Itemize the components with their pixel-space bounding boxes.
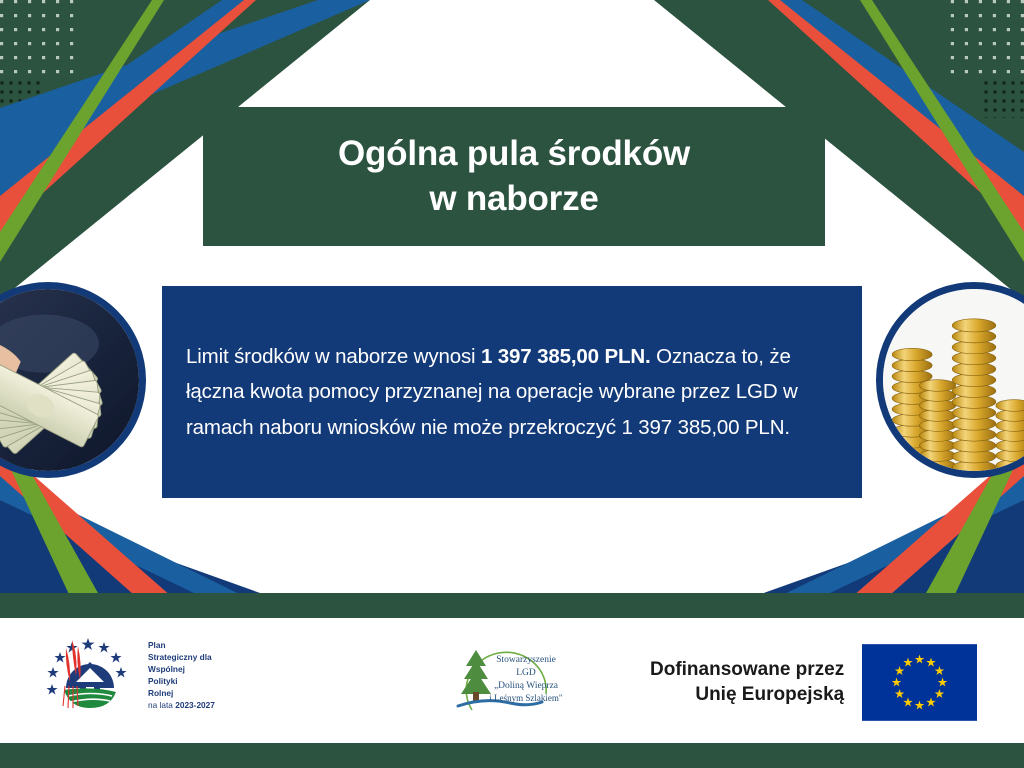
- title-line-2: w naborze: [429, 177, 598, 222]
- prow-line-years: na lata 2023-2027: [148, 699, 215, 711]
- prow-line-5: Rolnej: [148, 687, 215, 699]
- eu-text-line-1: Dofinansowane przez: [650, 658, 844, 682]
- eu-funding-text: Dofinansowane przez Unię Europejską: [650, 658, 844, 707]
- banknotes-illustration: [0, 289, 139, 471]
- green-divider-bar-bottom: [0, 743, 1024, 768]
- lgd-line-3: „Doliną Wieprza: [494, 681, 559, 691]
- green-divider-bar-top: [0, 593, 1024, 618]
- prow-years-prefix: na lata: [148, 700, 175, 710]
- prow-line-1: Plan: [148, 639, 215, 651]
- body-part-1: Limit środków w naborze wynosi: [186, 345, 481, 368]
- prow-years: 2023-2027: [175, 700, 215, 710]
- footer-logos-strip: Plan Strategiczny dla Wspólnej Polityki …: [0, 618, 1024, 743]
- limit-amount: 1 397 385,00 PLN.: [481, 345, 651, 368]
- lgd-line-1: Stowarzyszenie: [496, 655, 556, 665]
- eu-funding-block: Dofinansowane przez Unię Europejską: [650, 644, 977, 721]
- lgd-line-2: LGD: [516, 668, 536, 678]
- lgd-logo: Stowarzyszenie LGD „Doliną Wieprza i Leś…: [446, 634, 570, 722]
- title-box: Ogólna pula środków w naborze: [203, 107, 825, 246]
- body-text-box: Limit środków w naborze wynosi 1 397 385…: [162, 286, 862, 498]
- body-paragraph: Limit środków w naborze wynosi 1 397 385…: [162, 339, 862, 445]
- prow-logo: Plan Strategiczny dla Wspólnej Polityki …: [42, 632, 215, 718]
- eu-flag-icon: [862, 644, 977, 721]
- eu-text-line-2: Unię Europejską: [650, 683, 844, 707]
- prow-line-3: Wspólnej: [148, 663, 215, 675]
- lgd-line-4: i Leśnym Szlakiem": [489, 693, 562, 703]
- prow-line-2: Strategiczny dla: [148, 651, 215, 663]
- prow-line-4: Polityki: [148, 675, 215, 687]
- prow-logo-mark: [42, 632, 142, 718]
- title-line-1: Ogólna pula środków: [338, 132, 690, 177]
- eu-flag-graphic: [862, 644, 977, 721]
- poster-canvas: Ogólna pula środków w naborze Limit środ…: [0, 0, 1024, 768]
- prow-logo-text: Plan Strategiczny dla Wspólnej Polityki …: [148, 639, 215, 712]
- lgd-logo-mark: Stowarzyszenie LGD „Doliną Wieprza i Leś…: [446, 634, 570, 722]
- coin-stacks-illustration: [883, 289, 1024, 471]
